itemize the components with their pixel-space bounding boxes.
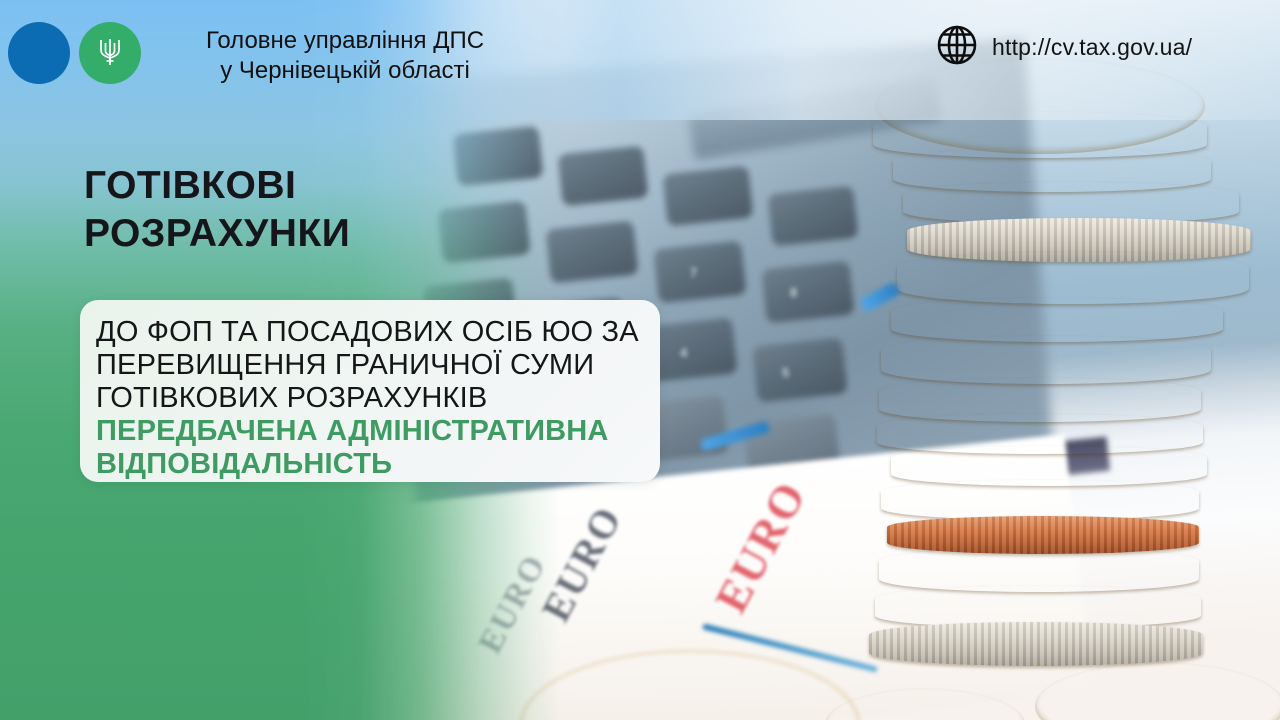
- calculator-key-label: 7: [690, 265, 697, 280]
- logo-blue-circle: [8, 22, 70, 84]
- calculator-key: [653, 241, 746, 304]
- card-text-line: ДО ФОП ТА ПОСАДОВИХ ОСІБ ЮО ЗА: [96, 316, 660, 349]
- coin-loose-face: [825, 688, 1025, 720]
- organization-title: Головне управління ДПС у Чернівецькій об…: [145, 26, 545, 86]
- calculator-key-label: 4: [680, 345, 687, 360]
- message-card: ДО ФОП ТА ПОСАДОВИХ ОСІБ ЮО ЗА ПЕРЕВИЩЕН…: [80, 300, 660, 482]
- coin: [881, 480, 1199, 520]
- card-text-line-accent: ВІДПОВІДАЛЬНІСТЬ: [96, 448, 660, 481]
- coin: [897, 252, 1249, 304]
- calculator-key-label: 5: [782, 365, 789, 380]
- calculator-key: [558, 146, 649, 207]
- logo-green-circle: [79, 22, 141, 84]
- globe-icon: [936, 24, 978, 71]
- card-text-line: ПЕРЕВИЩЕННЯ ГРАНИЧНОЇ СУМИ: [96, 349, 660, 382]
- calculator-key: [663, 166, 754, 227]
- card-text-line: ГОТІВКОВИХ РОЗРАХУНКІВ: [96, 382, 660, 415]
- website-link[interactable]: http://cv.tax.gov.ua/: [936, 24, 1192, 71]
- header-bar: Головне управління ДПС у Чернівецькій об…: [0, 0, 1280, 110]
- website-url-text: http://cv.tax.gov.ua/: [992, 34, 1192, 61]
- coin-loose-face: [1035, 662, 1280, 720]
- ukraine-trident-icon: [97, 35, 123, 72]
- calculator-key: [752, 337, 847, 402]
- poster-canvas: 7 8 4 5 EURO EURO EURO: [0, 0, 1280, 720]
- coin: [869, 622, 1203, 666]
- card-text-line-accent: ПЕРЕДБАЧЕНА АДМІНІСТРАТИВНА: [96, 415, 660, 448]
- calculator-key: [761, 261, 854, 324]
- page-title: ГОТІВКОВІ РОЗРАХУНКИ: [84, 162, 544, 258]
- calculator-key-label: 8: [790, 285, 797, 300]
- coin-stack: [855, 40, 1280, 720]
- coin: [881, 336, 1211, 384]
- calculator-key: [768, 186, 859, 247]
